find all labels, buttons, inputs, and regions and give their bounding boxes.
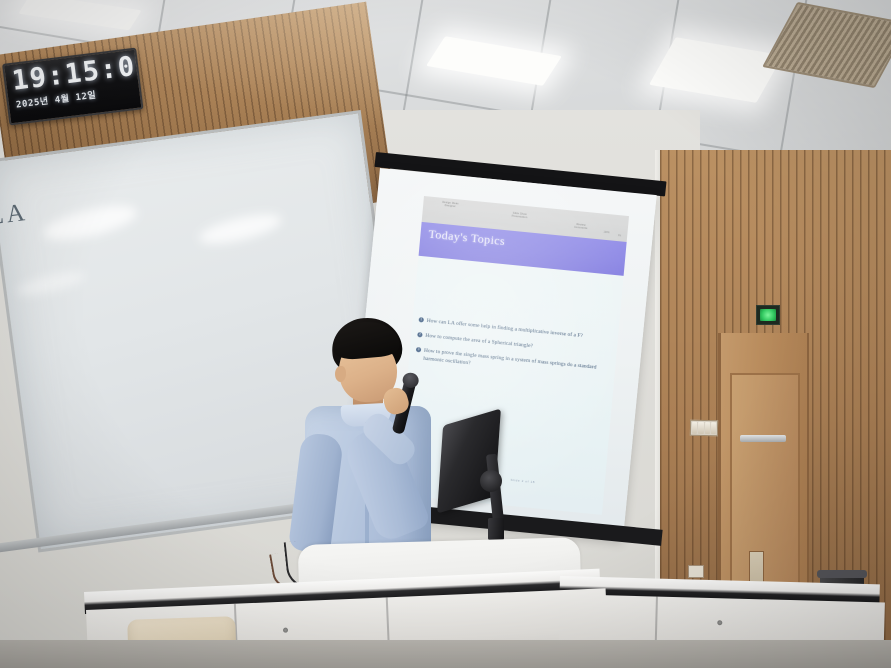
cabinet-lock[interactable] (717, 620, 722, 625)
emergency-exit-sign (756, 305, 780, 325)
fit-slide-button[interactable]: Fit (618, 234, 621, 237)
ribbon-tab[interactable]: Review Comments (562, 222, 600, 232)
monitor-pivot-joint[interactable] (480, 470, 502, 492)
floor (0, 640, 891, 668)
bin-lid (817, 570, 867, 578)
running-man-icon (760, 309, 776, 321)
door-handle[interactable] (740, 435, 786, 442)
monitor-clamp (488, 518, 504, 540)
ribbon-tab[interactable]: Slide Show Presentation (500, 211, 538, 221)
ribbon-tab[interactable]: Design Ideas Designer (431, 200, 469, 210)
microphone-head (401, 371, 420, 389)
cabinet-lock[interactable] (283, 628, 288, 633)
light-switch[interactable] (711, 422, 716, 434)
light-switch[interactable] (692, 422, 697, 434)
zoom-level-label: 100% (603, 231, 609, 235)
confidence-monitor[interactable] (440, 418, 536, 538)
light-switch-panel[interactable] (690, 420, 718, 436)
light-switch[interactable] (698, 422, 703, 434)
light-switch[interactable] (704, 422, 709, 434)
presenter-ear (335, 366, 346, 382)
lecture-hall-photo: LA 19:15:05 2025년 4월 12일 Design Ideas De… (0, 0, 891, 668)
wall-outlet[interactable] (688, 565, 704, 578)
